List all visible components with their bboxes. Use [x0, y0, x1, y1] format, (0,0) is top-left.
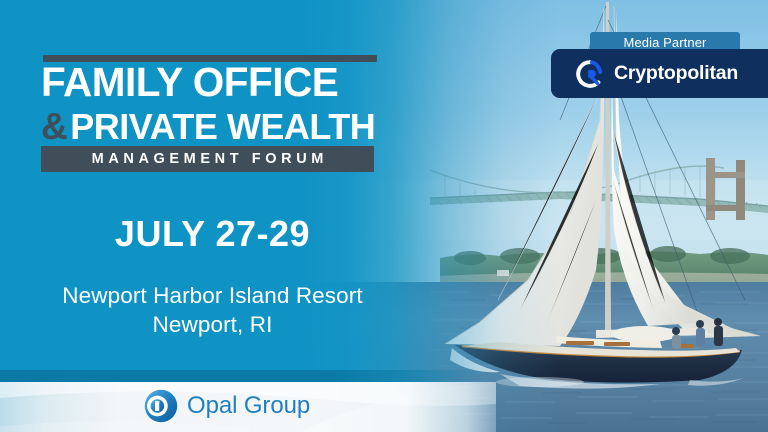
event-subtitle: MANAGEMENT FORUM	[41, 146, 374, 172]
venue-city: Newport, RI	[0, 311, 425, 340]
opal-group-swirl-icon	[143, 388, 179, 424]
event-title-line-2: &PRIVATE WEALTH	[41, 108, 411, 145]
organizer-logo: Opal Group	[143, 388, 310, 424]
venue-name: Newport Harbor Island Resort	[62, 283, 362, 308]
media-partner-tab-label: Media Partner	[624, 35, 707, 50]
event-subtitle-bar: MANAGEMENT FORUM	[41, 146, 374, 172]
event-venue: Newport Harbor Island Resort Newport, RI	[0, 282, 425, 340]
event-title-line-2-text: PRIVATE WEALTH	[70, 106, 375, 147]
event-promo-banner: FAMILY OFFICE &PRIVATE WEALTH MANAGEMENT…	[0, 0, 768, 432]
organizer-name: Opal Group	[187, 392, 310, 420]
ampersand-glyph: &	[41, 106, 67, 147]
cryptopolitan-ring-icon	[575, 59, 605, 89]
event-details-block: FAMILY OFFICE &PRIVATE WEALTH MANAGEMENT…	[0, 0, 430, 432]
event-dates: JULY 27-29	[0, 216, 425, 252]
media-partner-panel: Cryptopolitan	[551, 49, 768, 98]
media-partner-name: Cryptopolitan	[614, 62, 738, 85]
event-title-line-1: FAMILY OFFICE	[41, 62, 401, 103]
